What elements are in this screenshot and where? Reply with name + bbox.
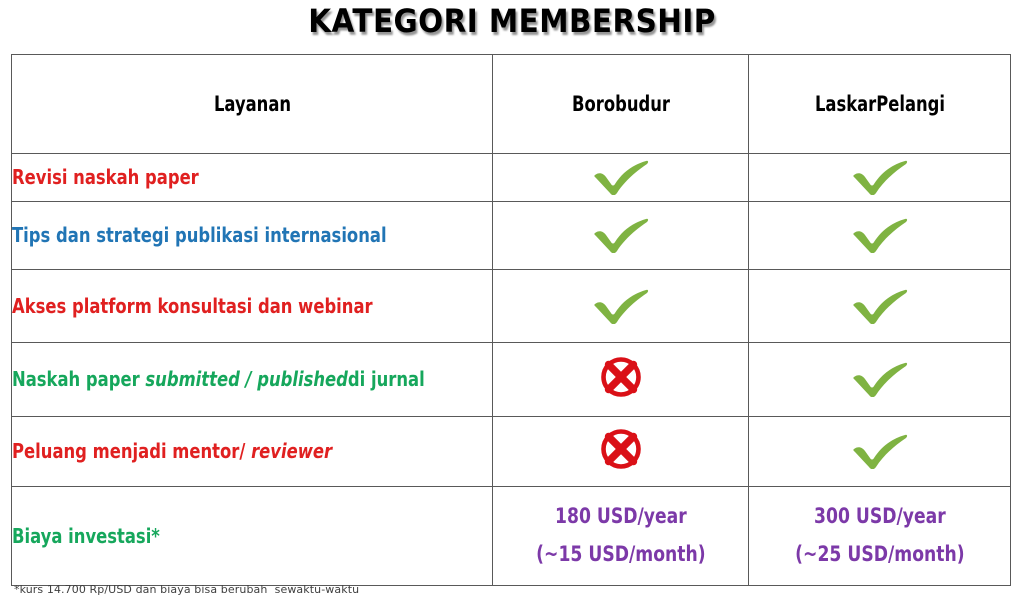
table-header-row: Layanan Borobudur LaskarPelangi — [12, 55, 1011, 154]
check-mark-icon — [848, 213, 912, 253]
circled-cross-icon — [598, 354, 644, 400]
service-label-cell-5: Peluang menjadi mentor/ reviewer — [12, 417, 493, 487]
check-mark-icon — [589, 155, 653, 195]
service-label-4-emphasis: submitted / published — [145, 367, 348, 391]
service-label-4-post: di jurnal — [348, 367, 425, 391]
service-label-3: Akses platform konsultasi dan webinar — [12, 294, 373, 318]
price-laskarpelangi-yearly: 300 USD/year — [814, 504, 946, 529]
service-label-5-emphasis: reviewer — [251, 439, 332, 463]
cell-laskarpelangi-1 — [749, 154, 1011, 202]
column-header-service: Layanan — [64, 55, 439, 154]
cell-borobudur-2 — [493, 202, 749, 270]
table-row: Naskah paper submitted / publisheddi jur… — [12, 343, 1011, 417]
service-label-2: Tips dan strategi publikasi internasiona… — [12, 223, 387, 247]
column-header-plan-laskarpelangi-label: LaskarPelangi — [814, 92, 944, 116]
cell-borobudur-4 — [493, 343, 749, 417]
column-header-service-label: Layanan — [213, 92, 290, 116]
price-borobudur-yearly: 180 USD/year — [555, 504, 687, 529]
price-borobudur-monthly: (~15 USD/month) — [536, 542, 705, 567]
check-mark-icon — [848, 357, 912, 397]
cell-laskarpelangi-3 — [749, 270, 1011, 343]
cell-borobudur-1 — [493, 154, 749, 202]
table-row: Tips dan strategi publikasi internasiona… — [12, 202, 1011, 270]
table-row: Akses platform konsultasi dan webinar — [12, 270, 1011, 343]
check-mark-icon — [848, 284, 912, 324]
service-label-5-pre: Peluang menjadi mentor/ — [12, 439, 251, 463]
service-label-cell-2: Tips dan strategi publikasi internasiona… — [12, 202, 493, 270]
check-mark-icon — [848, 429, 912, 469]
cell-borobudur-3 — [493, 270, 749, 343]
table-row: Revisi naskah paper — [12, 154, 1011, 202]
service-label-1: Revisi naskah paper — [12, 165, 199, 189]
table-row: Peluang menjadi mentor/ reviewer — [12, 417, 1011, 487]
cell-laskarpelangi-5 — [749, 417, 1011, 487]
table-row: Biaya investasi* 180 USD/year (~15 USD/m… — [12, 487, 1011, 586]
service-label-cell-6: Biaya investasi* — [12, 487, 493, 586]
service-label-cell-3: Akses platform konsultasi dan webinar — [12, 270, 493, 343]
price-laskarpelangi-monthly: (~25 USD/month) — [795, 542, 964, 567]
cell-borobudur-5 — [493, 417, 749, 487]
check-mark-icon — [589, 284, 653, 324]
column-header-plan-borobudur-label: Borobudur — [572, 92, 670, 116]
page-title: KATEGORI MEMBERSHIP — [41, 2, 983, 40]
cell-laskarpelangi-price: 300 USD/year (~25 USD/month) — [749, 487, 1011, 586]
check-mark-icon — [589, 213, 653, 253]
service-label-6: Biaya investasi* — [12, 524, 160, 548]
column-header-plan-borobudur: Borobudur — [521, 55, 721, 154]
cell-laskarpelangi-2 — [749, 202, 1011, 270]
service-label-cell-4: Naskah paper submitted / publisheddi jur… — [12, 343, 493, 417]
check-mark-icon — [848, 155, 912, 195]
footnote-exchange-rate: *kurs 14.700 Rp/USD dan biaya bisa berub… — [14, 583, 359, 596]
column-header-plan-laskarpelangi: LaskarPelangi — [777, 55, 981, 154]
service-label-cell-1: Revisi naskah paper — [12, 154, 493, 202]
circled-cross-icon — [598, 426, 644, 472]
cell-borobudur-price: 180 USD/year (~15 USD/month) — [493, 487, 749, 586]
cell-laskarpelangi-4 — [749, 343, 1011, 417]
service-label-4-pre: Naskah paper — [12, 367, 145, 391]
membership-comparison-table: Layanan Borobudur LaskarPelangi Revisi n… — [11, 54, 1011, 586]
